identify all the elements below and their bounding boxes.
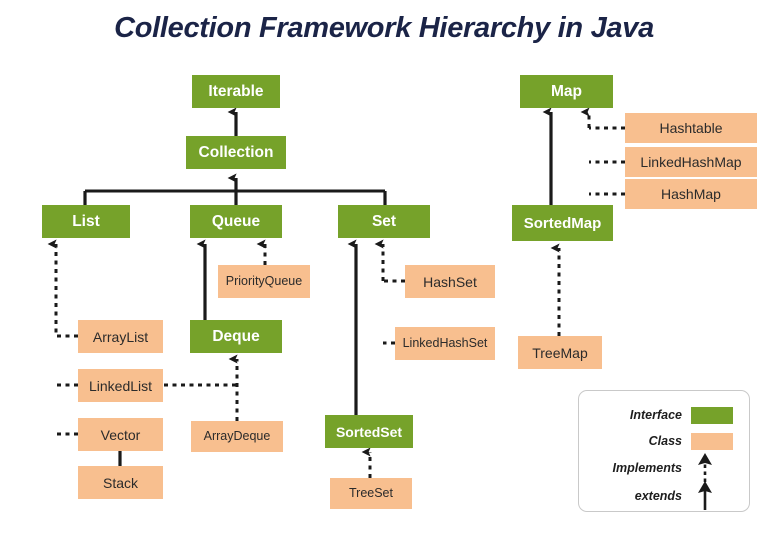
node-label: HashSet — [423, 275, 477, 289]
node-label: Deque — [212, 329, 259, 345]
legend-row-implements: Implements — [579, 453, 751, 483]
node-label: SortedMap — [524, 216, 602, 231]
node-linkedlist[interactable]: LinkedList — [78, 369, 163, 402]
node-label: Iterable — [208, 84, 263, 100]
page-title: Collection Framework Hierarchy in Java — [0, 12, 768, 45]
legend-interface-label: Interface — [579, 408, 691, 422]
node-deque[interactable]: Deque — [190, 320, 282, 353]
node-label: LinkedList — [89, 379, 152, 393]
node-linkedhashmap[interactable]: LinkedHashMap — [625, 147, 757, 177]
node-hashmap[interactable]: HashMap — [625, 179, 757, 209]
node-arraydeque[interactable]: ArrayDeque — [191, 421, 283, 452]
node-label: Vector — [101, 428, 141, 442]
node-label: SortedSet — [336, 425, 402, 439]
node-priorityqueue[interactable]: PriorityQueue — [218, 265, 310, 298]
node-treemap[interactable]: TreeMap — [518, 336, 602, 369]
interface-color-swatch — [691, 407, 733, 424]
node-label: ArrayList — [93, 330, 148, 344]
node-vector[interactable]: Vector — [78, 418, 163, 451]
node-set[interactable]: Set — [338, 205, 430, 238]
diagram-canvas: Collection Framework Hierarchy in Java — [0, 0, 768, 538]
node-arraylist[interactable]: ArrayList — [78, 320, 163, 353]
node-stack[interactable]: Stack — [78, 466, 163, 499]
legend-row-class: Class — [579, 429, 751, 453]
node-label: Set — [372, 214, 396, 230]
node-label: Collection — [199, 145, 274, 161]
node-treeset[interactable]: TreeSet — [330, 478, 412, 509]
node-map[interactable]: Map — [520, 75, 613, 108]
node-collection[interactable]: Collection — [186, 136, 286, 169]
node-label: TreeSet — [349, 487, 393, 500]
node-iterable[interactable]: Iterable — [192, 75, 280, 108]
node-list[interactable]: List — [42, 205, 130, 238]
legend: Interface Class Implements extends — [578, 390, 750, 512]
legend-row-extends: extends — [579, 481, 751, 511]
legend-extends-label: extends — [579, 489, 691, 503]
legend-row-interface: Interface — [579, 403, 751, 427]
class-color-swatch — [691, 433, 733, 450]
solid-arrow-icon — [691, 481, 733, 511]
node-queue[interactable]: Queue — [190, 205, 282, 238]
node-label: Queue — [212, 214, 260, 230]
node-hashset[interactable]: HashSet — [405, 265, 495, 298]
node-label: Map — [551, 84, 582, 100]
node-label: Hashtable — [659, 121, 722, 135]
node-label: TreeMap — [532, 346, 588, 360]
node-hashtable[interactable]: Hashtable — [625, 113, 757, 143]
node-sortedset[interactable]: SortedSet — [325, 415, 413, 448]
node-label: ArrayDeque — [204, 430, 271, 443]
node-linkedhashset[interactable]: LinkedHashSet — [395, 327, 495, 360]
node-label: PriorityQueue — [226, 275, 302, 288]
node-sortedmap[interactable]: SortedMap — [512, 205, 613, 241]
node-label: LinkedHashSet — [403, 337, 488, 350]
legend-class-label: Class — [579, 434, 691, 448]
node-label: List — [72, 214, 100, 230]
node-label: LinkedHashMap — [640, 155, 741, 169]
node-label: Stack — [103, 476, 138, 490]
node-label: HashMap — [661, 187, 721, 201]
legend-implements-label: Implements — [579, 461, 691, 475]
dotted-arrow-icon — [691, 453, 733, 483]
